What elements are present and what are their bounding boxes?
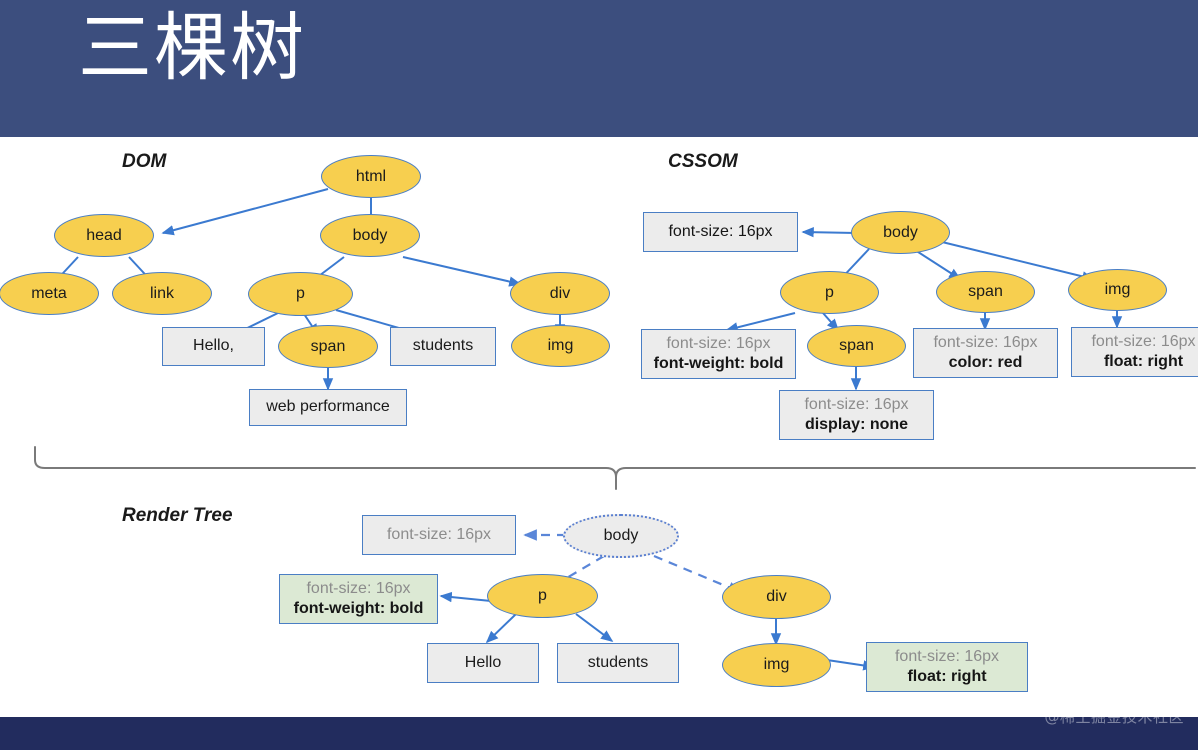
dom-text-students-label: students — [413, 336, 473, 356]
dom-section-label: DOM — [122, 151, 166, 173]
dom-node-p[interactable]: p — [248, 272, 353, 316]
render-style-p-declared: font-weight: bold — [294, 599, 424, 619]
render-style-box-img: font-size: 16px float: right — [866, 642, 1028, 692]
render-node-div[interactable]: div — [722, 575, 831, 619]
grouping-brace — [35, 447, 1195, 489]
cssom-style-p-declared: font-weight: bold — [654, 354, 784, 374]
cssom-section-label: CSSOM — [668, 151, 738, 173]
cssom-style-span-child-inherited: font-size: 16px — [804, 395, 908, 415]
dom-text-webperformance-label: web performance — [266, 397, 390, 417]
cssom-node-body[interactable]: body — [851, 211, 950, 254]
dom-node-head[interactable]: head — [54, 214, 154, 257]
dom-node-body[interactable]: body — [320, 214, 420, 257]
cssom-style-box-span: font-size: 16px color: red — [913, 328, 1058, 378]
cssom-style-img-inherited: font-size: 16px — [1091, 332, 1195, 352]
cssom-style-span-inherited: font-size: 16px — [933, 333, 1037, 353]
cssom-style-box-span-child: font-size: 16px display: none — [779, 390, 934, 440]
render-section-label: Render Tree — [122, 505, 233, 527]
render-text-students-label: students — [588, 653, 648, 673]
footer-band — [0, 717, 1198, 750]
dom-node-span[interactable]: span — [278, 325, 378, 368]
cssom-style-box-p: font-size: 16px font-weight: bold — [641, 329, 796, 379]
connector-layer — [0, 137, 1198, 717]
cssom-style-p-inherited: font-size: 16px — [666, 334, 770, 354]
render-node-img[interactable]: img — [722, 643, 831, 687]
render-style-box-body: font-size: 16px — [362, 515, 516, 555]
dom-text-hello-label: Hello, — [193, 336, 234, 356]
render-style-body-inherited: font-size: 16px — [387, 525, 491, 545]
dom-node-img[interactable]: img — [511, 325, 610, 367]
cssom-node-span-child[interactable]: span — [807, 325, 906, 367]
diagram-canvas: DOM html head body meta link p div span … — [0, 137, 1198, 717]
cssom-style-img-declared: float: right — [1104, 352, 1183, 372]
render-style-img-inherited: font-size: 16px — [895, 647, 999, 667]
cssom-style-body-declared: font-size: 16px — [668, 222, 772, 242]
render-text-hello-label: Hello — [465, 653, 501, 673]
dom-text-hello: Hello, — [162, 327, 265, 366]
slide-root: 三棵树 — [0, 0, 1198, 750]
cssom-style-box-body: font-size: 16px — [643, 212, 798, 252]
render-node-p[interactable]: p — [487, 574, 598, 618]
render-text-hello: Hello — [427, 643, 539, 683]
cssom-node-span[interactable]: span — [936, 271, 1035, 313]
dom-text-students: students — [390, 327, 496, 366]
render-text-students: students — [557, 643, 679, 683]
watermark: @稀土掘金技术社区 — [1044, 706, 1184, 727]
render-style-p-inherited: font-size: 16px — [306, 579, 410, 599]
render-node-body[interactable]: body — [563, 514, 679, 558]
cssom-style-span-declared: color: red — [949, 353, 1023, 373]
cssom-style-span-child-declared: display: none — [805, 415, 908, 435]
render-style-img-declared: float: right — [907, 667, 986, 687]
cssom-node-p[interactable]: p — [780, 271, 879, 314]
dom-text-webperformance: web performance — [249, 389, 407, 426]
page-title: 三棵树 — [78, 6, 306, 91]
dom-node-link[interactable]: link — [112, 272, 212, 315]
cssom-node-img[interactable]: img — [1068, 269, 1167, 311]
dom-node-meta[interactable]: meta — [0, 272, 99, 315]
dom-node-div[interactable]: div — [510, 272, 610, 315]
render-style-box-p: font-size: 16px font-weight: bold — [279, 574, 438, 624]
cssom-style-box-img: font-size: 16px float: right — [1071, 327, 1198, 377]
dom-node-html[interactable]: html — [321, 155, 421, 198]
